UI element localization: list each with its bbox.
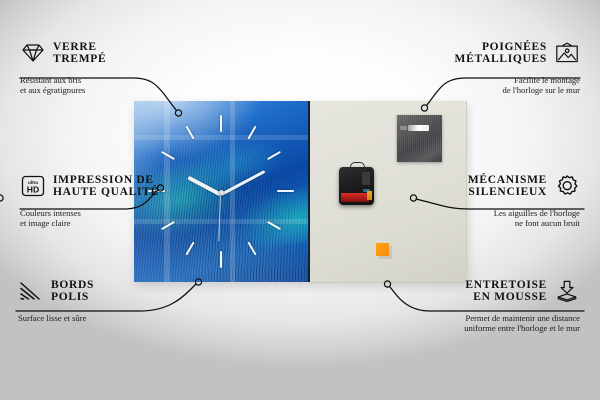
- svg-text:HD: HD: [27, 185, 39, 195]
- feature-title: IMPRESSION DE HAUTE QUALITÉ: [53, 174, 159, 199]
- diamond-icon: [20, 40, 46, 66]
- gear-icon: [554, 173, 580, 199]
- clock-tick-12: [220, 115, 222, 132]
- feature-subtitle: Permet de maintenir une distance uniform…: [380, 313, 580, 334]
- ultra-hd-icon: ultra HD: [20, 173, 46, 199]
- marker-mecanisme: [0, 195, 3, 201]
- feature-title: POIGNÉES MÉTALLIQUES: [455, 41, 547, 66]
- feature-subtitle: Couleurs intenses et image claire: [20, 208, 220, 229]
- feature-verre-trempe: VERRE TREMPÉ Résistant aux bris et aux é…: [20, 40, 220, 96]
- picture-hanger-icon: [554, 40, 580, 66]
- movement-housing-detail: [362, 172, 370, 185]
- feature-title: BORDS POLIS: [51, 279, 94, 304]
- foam-spacer-icon: [554, 278, 580, 304]
- feature-impression-haute-qualite: ultra HD IMPRESSION DE HAUTE QUALITÉ Cou…: [20, 173, 220, 229]
- feature-poignees-metalliques: POIGNÉES MÉTALLIQUES Facilite le montage…: [380, 40, 580, 96]
- metal-hanger-plate: [397, 115, 442, 162]
- feature-title: ENTRETOISE EN MOUSSE: [465, 279, 547, 304]
- feature-subtitle: Les aiguilles de l'horloge ne font aucun…: [380, 208, 580, 229]
- quartz-movement: [339, 167, 374, 205]
- foam-spacer-pad: [376, 243, 389, 256]
- clock-tick-3: [277, 190, 294, 192]
- infographic-canvas: VERRE TREMPÉ Résistant aux bris et aux é…: [0, 0, 600, 400]
- clock-tick-6: [220, 251, 222, 268]
- polished-edges-icon: [18, 278, 44, 304]
- feature-subtitle: Surface lisse et sûre: [18, 313, 218, 323]
- feature-subtitle: Résistant aux bris et aux égratignures: [20, 75, 220, 96]
- feature-bords-polis: BORDS POLIS Surface lisse et sûre: [18, 278, 218, 323]
- aa-battery: [341, 193, 369, 202]
- movement-hanger-loop: [350, 162, 365, 171]
- feature-subtitle: Facilite le montage de l'horloge sur le …: [380, 75, 580, 96]
- feature-title: MÉCANISME SILENCIEUX: [468, 174, 547, 199]
- feature-entretoise-en-mousse: ENTRETOISE EN MOUSSE Permet de maintenir…: [380, 278, 580, 334]
- feature-mecanisme-silencieux: MÉCANISME SILENCIEUX Les aiguilles de l'…: [380, 173, 580, 229]
- feature-title: VERRE TREMPÉ: [53, 41, 106, 66]
- battery-terminal: [367, 191, 372, 200]
- hanger-keyhole-slot: [408, 125, 429, 131]
